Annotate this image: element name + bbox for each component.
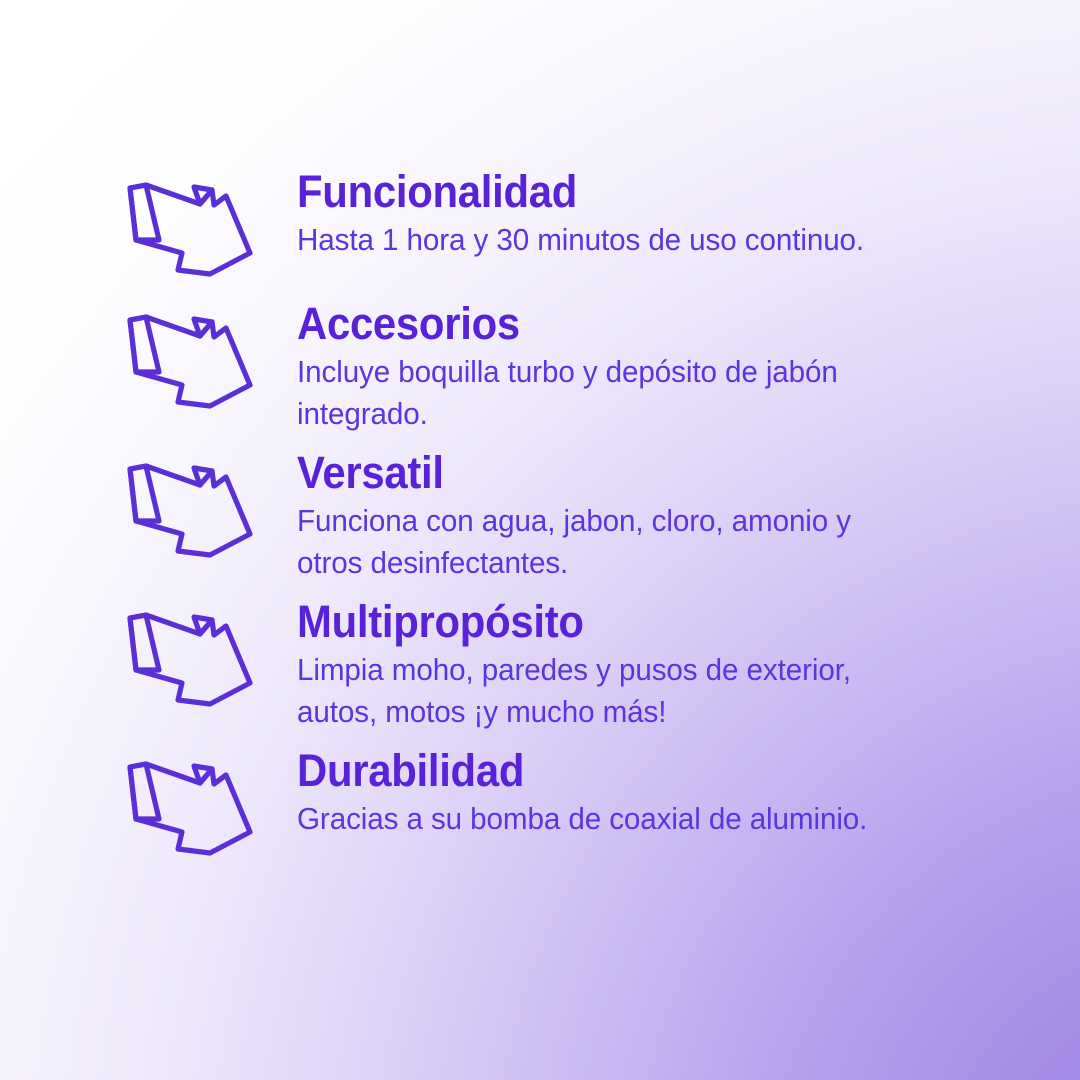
feature-description-line: Hasta 1 hora y 30 minutos de uso continu…	[297, 219, 966, 261]
feature-description: Gracias a su bomba de coaxial de alumini…	[297, 798, 966, 840]
feature-title: Funcionalidad	[297, 168, 948, 216]
arrow-down-right-icon	[122, 168, 272, 282]
feature-description: Limpia moho, paredes y pusos de exterior…	[297, 649, 966, 733]
arrow-down-right-icon	[122, 300, 272, 414]
feature-title: Accesorios	[297, 300, 948, 348]
feature-text: Multipropósito Limpia moho, paredes y pu…	[272, 598, 997, 733]
feature-description-line: Limpia moho, paredes y pusos de exterior…	[297, 649, 966, 691]
feature-text: Versatil Funciona con agua, jabon, cloro…	[272, 449, 997, 584]
arrow-down-right-icon	[122, 598, 272, 712]
feature-title: Versatil	[297, 449, 948, 497]
feature-description: Funciona con agua, jabon, cloro, amonio …	[297, 500, 966, 584]
feature-item-funcionalidad: Funcionalidad Hasta 1 hora y 30 minutos …	[0, 168, 1080, 282]
feature-description-line: otros desinfectantes.	[297, 542, 966, 584]
feature-description-line: Incluye boquilla turbo y depósito de jab…	[297, 351, 966, 393]
feature-item-accesorios: Accesorios Incluye boquilla turbo y depó…	[0, 300, 1080, 435]
feature-description: Hasta 1 hora y 30 minutos de uso continu…	[297, 219, 966, 261]
feature-item-durabilidad: Durabilidad Gracias a su bomba de coaxia…	[0, 747, 1080, 861]
feature-title: Durabilidad	[297, 747, 948, 795]
arrow-down-right-icon	[122, 449, 272, 563]
feature-item-multiproposito: Multipropósito Limpia moho, paredes y pu…	[0, 598, 1080, 733]
feature-text: Accesorios Incluye boquilla turbo y depó…	[272, 300, 997, 435]
feature-list: Funcionalidad Hasta 1 hora y 30 minutos …	[0, 0, 1080, 861]
feature-text: Funcionalidad Hasta 1 hora y 30 minutos …	[272, 168, 997, 261]
feature-description-line: Gracias a su bomba de coaxial de alumini…	[297, 798, 966, 840]
feature-title: Multipropósito	[297, 598, 948, 646]
feature-item-versatil: Versatil Funciona con agua, jabon, cloro…	[0, 449, 1080, 584]
feature-description: Incluye boquilla turbo y depósito de jab…	[297, 351, 966, 435]
feature-text: Durabilidad Gracias a su bomba de coaxia…	[272, 747, 997, 840]
feature-description-line: autos, motos ¡y mucho más!	[297, 691, 966, 733]
feature-description-line: integrado.	[297, 393, 966, 435]
feature-poster: Funcionalidad Hasta 1 hora y 30 minutos …	[0, 0, 1080, 1080]
feature-description-line: Funciona con agua, jabon, cloro, amonio …	[297, 500, 966, 542]
arrow-down-right-icon	[122, 747, 272, 861]
